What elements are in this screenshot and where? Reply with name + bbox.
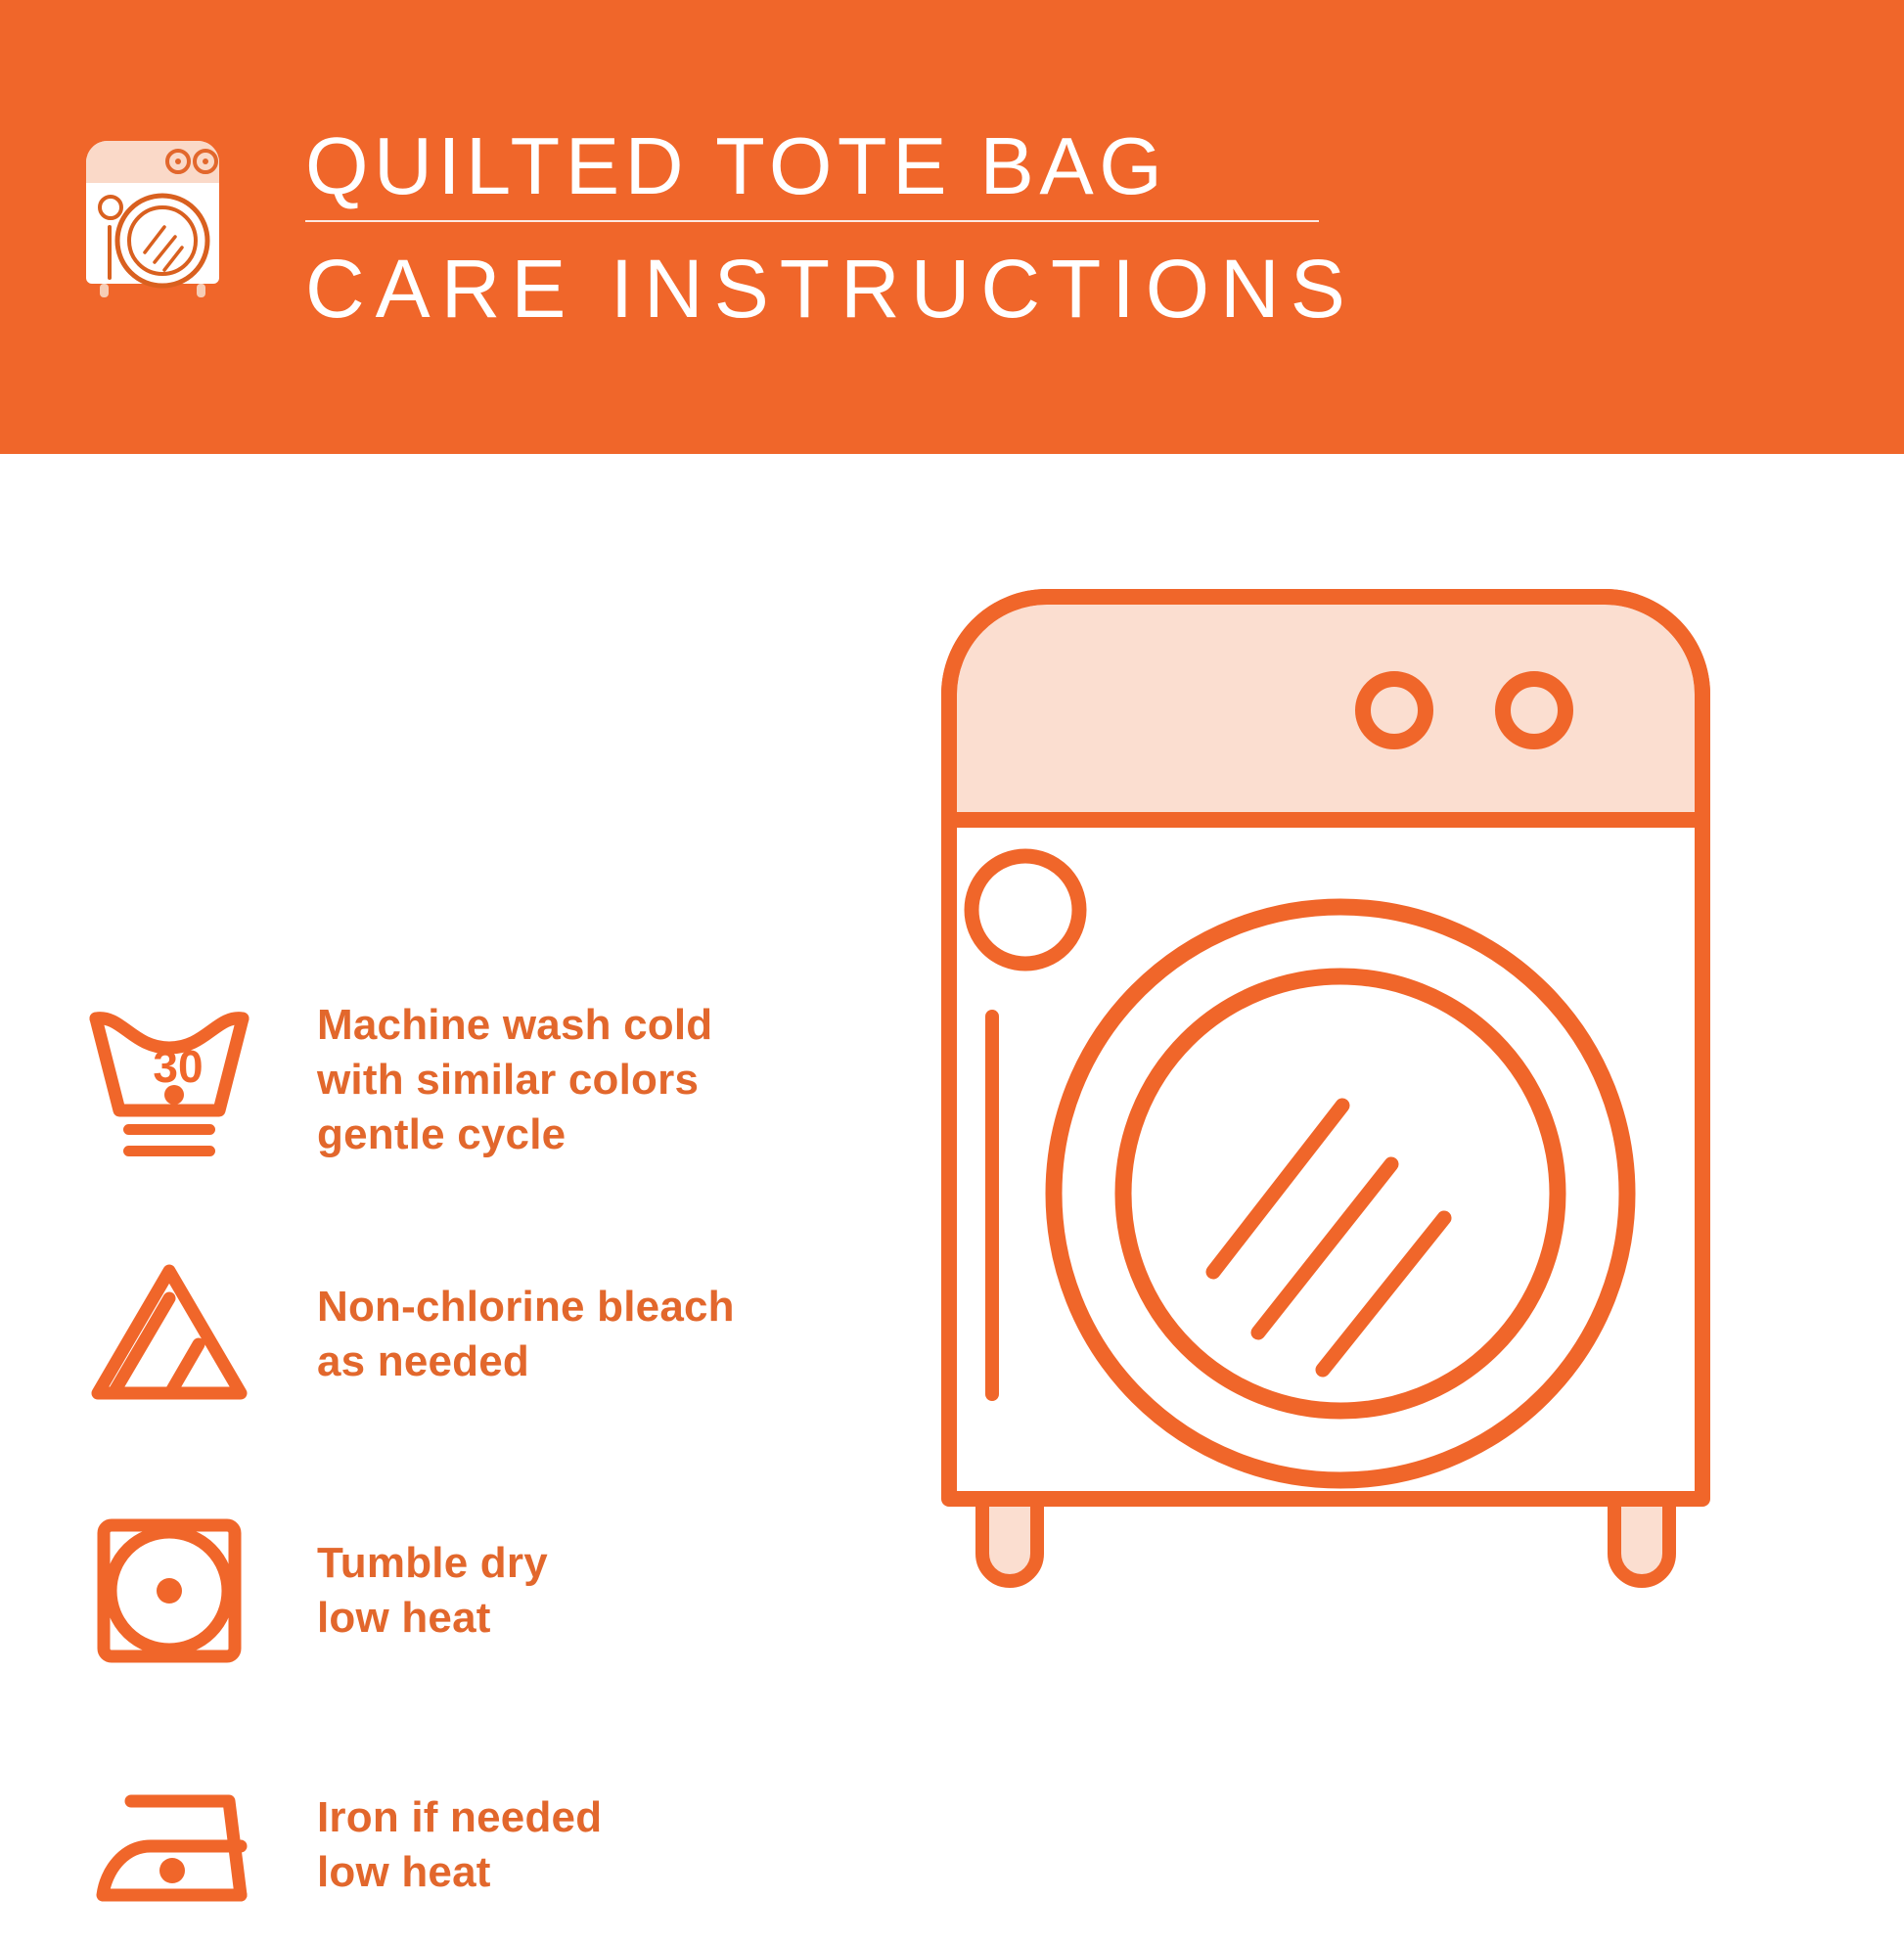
- washing-machine-illustration: [939, 587, 1712, 1595]
- care-label-line: low heat: [317, 1591, 548, 1646]
- wash-tub-30-gentle-icon: 30: [76, 987, 262, 1173]
- care-label-tumble-dry: Tumble dry low heat: [317, 1536, 548, 1647]
- non-chlorine-bleach-triangle-icon: [76, 1242, 262, 1427]
- care-label-line: as needed: [317, 1334, 735, 1389]
- care-label-line: Machine wash cold: [317, 998, 712, 1053]
- tumble-dry-low-icon: [76, 1498, 262, 1684]
- header-banner: QUILTED TOTE BAG CARE INSTRUCTIONS: [0, 0, 1904, 454]
- care-label-line: gentle cycle: [317, 1107, 712, 1162]
- care-label-line: Iron if needed: [317, 1790, 602, 1845]
- header-titles: QUILTED TOTE BAG CARE INSTRUCTIONS: [305, 125, 1323, 330]
- care-label-wash: Machine wash cold with similar colors ge…: [317, 998, 712, 1163]
- leg-right: [1614, 1497, 1669, 1581]
- header-content: QUILTED TOTE BAG CARE INSTRUCTIONS: [76, 125, 1323, 330]
- care-label-line: Tumble dry: [317, 1536, 548, 1591]
- care-label-line: with similar colors: [317, 1053, 712, 1107]
- care-row-wash: 30 Machine wash cold with similar colors…: [76, 987, 888, 1173]
- care-row-iron: Iron if needed low heat: [76, 1752, 888, 1938]
- care-label-bleach: Non-chlorine bleach as needed: [317, 1280, 735, 1390]
- care-label-line: Non-chlorine bleach: [317, 1280, 735, 1334]
- page-subtitle: CARE INSTRUCTIONS: [305, 222, 1323, 330]
- page-title: QUILTED TOTE BAG: [305, 125, 1323, 220]
- care-row-tumble-dry: Tumble dry low heat: [76, 1498, 888, 1684]
- top-control-panel: [957, 605, 1695, 820]
- care-row-bleach: Non-chlorine bleach as needed: [76, 1242, 888, 1427]
- detergent-bar: [985, 1010, 999, 1401]
- leg-left: [982, 1497, 1037, 1581]
- care-label-iron: Iron if needed low heat: [317, 1790, 602, 1901]
- care-instruction-list: 30 Machine wash cold with similar colors…: [0, 454, 910, 1904]
- wash-temperature-label: 30: [153, 1041, 203, 1092]
- care-label-line: low heat: [317, 1845, 602, 1900]
- iron-low-heat-icon: [76, 1752, 262, 1938]
- washing-machine-icon: [76, 129, 229, 297]
